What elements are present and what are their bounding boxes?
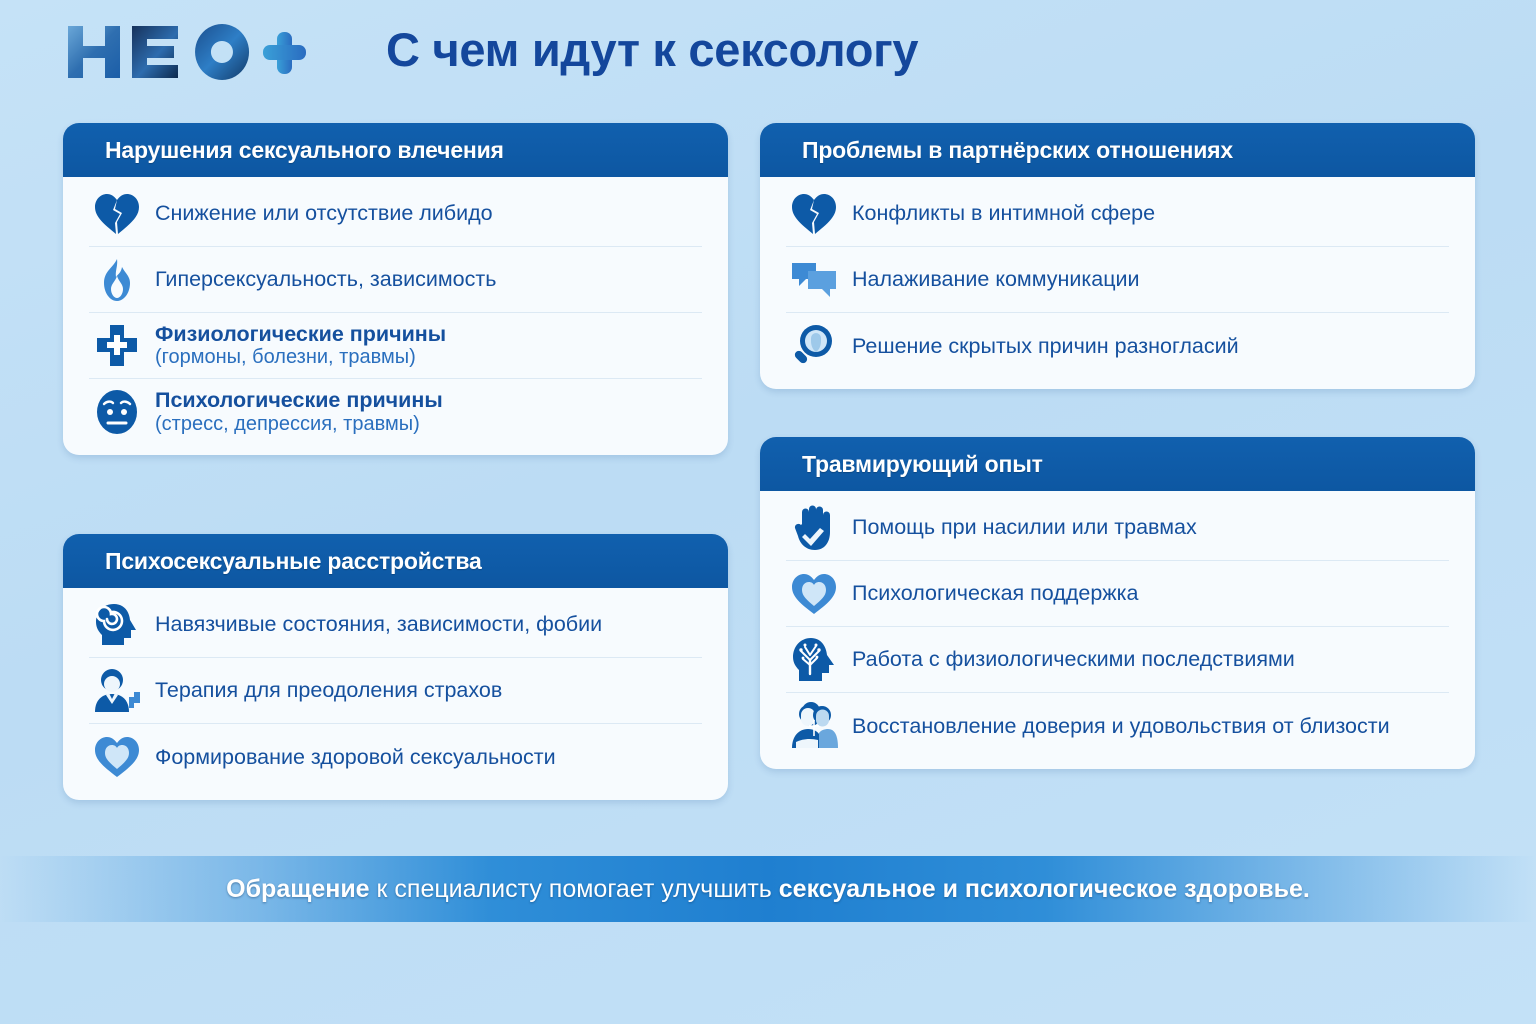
list-item-label: Восстановление доверия и удовольствия от…: [852, 714, 1390, 739]
list-item-text: Терапия для преодоления страхов: [155, 678, 502, 703]
broken-heart-icon: [89, 188, 145, 240]
card-psycho: Психосексуальные расстройства Навязчивые…: [63, 534, 728, 800]
list-item[interactable]: Психологическая поддержка: [786, 561, 1449, 627]
list-item-label: Физиологические причины: [155, 322, 446, 347]
list-item-text: Гиперсексуальность, зависимость: [155, 267, 496, 292]
list-item-label: Решение скрытых причин разногласий: [852, 334, 1239, 359]
list-item-text: Навязчивые состояния, зависимости, фобии: [155, 612, 602, 637]
list-item-text: Работа с физиологическими последствиями: [852, 647, 1295, 672]
head-tree-icon: [786, 634, 842, 686]
list-item[interactable]: Решение скрытых причин разногласий: [786, 313, 1449, 379]
footer-text: Обращение к специалисту помогает улучшит…: [226, 875, 1310, 904]
sad-face-icon: [89, 386, 145, 438]
footer-lead: Обращение: [226, 875, 369, 903]
card-body-trauma: Помощь при насилии или травмах Психологи…: [760, 491, 1475, 769]
footer-tail: сексуальное и психологическое здоровье.: [779, 875, 1310, 903]
footer-banner: Обращение к специалисту помогает улучшит…: [0, 856, 1536, 922]
person-plus-icon: [89, 665, 145, 717]
card-trauma: Травмирующий опыт Помощь при насилии или…: [760, 437, 1475, 769]
page-header: С чем идут к сексологу: [0, 0, 1536, 118]
medical-cross-icon: [89, 320, 145, 372]
list-item[interactable]: Помощь при насилии или травмах: [786, 495, 1449, 561]
list-item-label: Снижение или отсутствие либидо: [155, 201, 493, 226]
list-item[interactable]: Гиперсексуальность, зависимость: [89, 247, 702, 313]
list-item-label: Терапия для преодоления страхов: [155, 678, 502, 703]
heart-inner-icon: [89, 731, 145, 783]
list-item-text: Психологическая поддержка: [852, 581, 1139, 606]
list-item-text: Физиологические причины(гормоны, болезни…: [155, 322, 446, 370]
list-item-label: Формирование здоровой сексуальности: [155, 745, 556, 770]
list-item-text: Конфликты в интимной сфере: [852, 201, 1155, 226]
list-item-label: Помощь при насилии или травмах: [852, 515, 1197, 540]
card-desire: Нарушения сексуального влечения Снижение…: [63, 123, 728, 455]
list-item-text: Налаживание коммуникации: [852, 267, 1140, 292]
card-body-desire: Снижение или отсутствие либидо Гиперсекс…: [63, 177, 728, 455]
list-item-text: Восстановление доверия и удовольствия от…: [852, 714, 1390, 739]
card-header-desire: Нарушения сексуального влечения: [63, 123, 728, 177]
magnifier-person-icon: [786, 320, 842, 372]
list-item-label: Психологическая поддержка: [852, 581, 1139, 606]
card-body-partner: Конфликты в интимной сфере Налаживание к…: [760, 177, 1475, 389]
couple-embrace-icon: [786, 700, 842, 752]
list-item-sublabel: (гормоны, болезни, травмы): [155, 346, 446, 369]
list-item[interactable]: Работа с физиологическими последствиями: [786, 627, 1449, 693]
list-item[interactable]: Восстановление доверия и удовольствия от…: [786, 693, 1449, 759]
list-item-label: Навязчивые состояния, зависимости, фобии: [155, 612, 602, 637]
list-item[interactable]: Навязчивые состояния, зависимости, фобии: [89, 592, 702, 658]
list-item-label: Налаживание коммуникации: [852, 267, 1140, 292]
card-title: Травмирующий опыт: [802, 451, 1043, 478]
card-header-psycho: Психосексуальные расстройства: [63, 534, 728, 588]
list-item-text: Психологические причины(стресс, депресси…: [155, 388, 443, 436]
page-title: С чем идут к сексологу: [386, 22, 918, 77]
broken-heart-icon: [786, 188, 842, 240]
card-header-partner: Проблемы в партнёрских отношениях: [760, 123, 1475, 177]
list-item-label: Психологические причины: [155, 388, 443, 413]
list-item-text: Помощь при насилии или травмах: [852, 515, 1197, 540]
list-item-label: Работа с физиологическими последствиями: [852, 647, 1295, 672]
list-item-sublabel: (стресс, депрессия, травмы): [155, 413, 443, 436]
list-item-label: Конфликты в интимной сфере: [852, 201, 1155, 226]
list-item[interactable]: Физиологические причины(гормоны, болезни…: [89, 313, 702, 379]
footer-middle: к специалисту помогает улучшить: [370, 875, 779, 903]
list-item[interactable]: Снижение или отсутствие либидо: [89, 181, 702, 247]
list-item-text: Снижение или отсутствие либидо: [155, 201, 493, 226]
head-spiral-icon: [89, 599, 145, 651]
list-item-label: Гиперсексуальность, зависимость: [155, 267, 496, 292]
list-item[interactable]: Конфликты в интимной сфере: [786, 181, 1449, 247]
list-item-text: Формирование здоровой сексуальности: [155, 745, 556, 770]
card-body-psycho: Навязчивые состояния, зависимости, фобии…: [63, 588, 728, 800]
card-title: Нарушения сексуального влечения: [105, 137, 504, 164]
list-item[interactable]: Психологические причины(стресс, депресси…: [89, 379, 702, 445]
list-item[interactable]: Терапия для преодоления страхов: [89, 658, 702, 724]
card-header-trauma: Травмирующий опыт: [760, 437, 1475, 491]
hand-check-icon: [786, 502, 842, 554]
card-title: Психосексуальные расстройства: [105, 548, 482, 575]
speech-bubbles-icon: [786, 254, 842, 306]
list-item[interactable]: Налаживание коммуникации: [786, 247, 1449, 313]
neo-plus-logo: [62, 20, 312, 90]
card-title: Проблемы в партнёрских отношениях: [802, 137, 1233, 164]
list-item[interactable]: Формирование здоровой сексуальности: [89, 724, 702, 790]
card-partner: Проблемы в партнёрских отношениях Конфли…: [760, 123, 1475, 389]
heart-inner-icon: [786, 568, 842, 620]
flame-icon: [89, 254, 145, 306]
list-item-text: Решение скрытых причин разногласий: [852, 334, 1239, 359]
